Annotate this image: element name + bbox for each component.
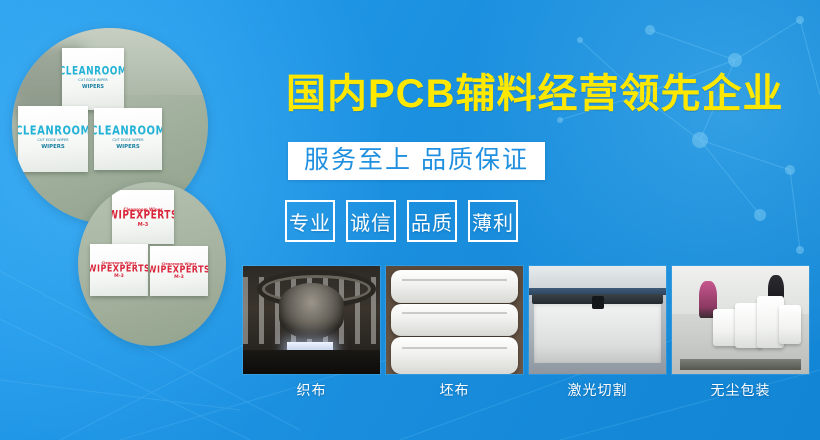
wiper-pack: CLEANROOM CUT EDGE WIPER WIPERS [18,106,88,172]
circle-photo-wipexperts: Cleanroom Wiper WIPEXPERTS M-3 Cleanroom… [78,182,226,346]
process-photo-strip [243,266,809,374]
tag-label: 诚信 [350,207,392,236]
fabric-roll [391,304,517,336]
packing-room-image [672,266,809,374]
banner-headline: 国内PCB辅料经营领先企业 [286,74,786,114]
promo-banner: CLEANROOM CUT EDGE WIPER WIPERS CLEANROO… [0,0,820,440]
tag-label: 专业 [289,207,331,236]
tag-quality[interactable]: 品质 [407,200,457,242]
tag-low-margin[interactable]: 薄利 [468,200,518,242]
cutting-bed [534,303,660,363]
tag-label: 品质 [411,207,453,236]
laser-cutter-image [529,266,666,374]
caption-weaving: 织布 [243,378,380,402]
wiper-pack: CLEANROOM CUT EDGE WIPER WIPERS [62,48,124,110]
wiper-pack: CLEANROOM CUT EDGE WIPER WIPERS [94,108,162,170]
photo-weaving[interactable] [243,266,380,374]
feature-tag-row: 专业 诚信 品质 薄利 [285,200,518,242]
wiper-pack: Cleanroom Wiper WIPEXPERTS M-3 [112,190,174,244]
machine-cylinder [279,283,345,339]
tag-label: 薄利 [472,207,514,236]
fabric-roll [391,337,517,374]
packing-table [680,359,801,370]
wipexperts-scene: Cleanroom Wiper WIPEXPERTS M-3 Cleanroom… [78,182,226,346]
photo-cleanroom-packing[interactable] [672,266,809,374]
tag-integrity[interactable]: 诚信 [346,200,396,242]
wiper-bundle [779,305,801,344]
fabric-roll [391,270,517,302]
caption-laser-cutting: 激光切割 [529,378,666,402]
machine-base [243,350,380,374]
caption-greige-fabric: 坯布 [386,378,523,402]
weaving-machine-image [243,266,380,374]
photo-laser-cutting[interactable] [529,266,666,374]
banner-subtitle-text: 服务至上 品质保证 [304,146,529,175]
caption-cleanroom-packing: 无尘包装 [672,378,809,402]
banner-subtitle-band: 服务至上 品质保证 [288,142,545,180]
fabric-rolls-image [386,266,523,374]
wiper-pack: Cleanroom Wiper WIPEXPERTS M-3 [150,246,208,296]
laser-head [592,296,604,309]
photo-greige-fabric[interactable] [386,266,523,374]
tag-professional[interactable]: 专业 [285,200,335,242]
process-caption-row: 织布 坯布 激光切割 无尘包装 [243,378,809,402]
wiper-pack: Cleanroom Wiper WIPEXPERTS M-3 [90,244,148,296]
